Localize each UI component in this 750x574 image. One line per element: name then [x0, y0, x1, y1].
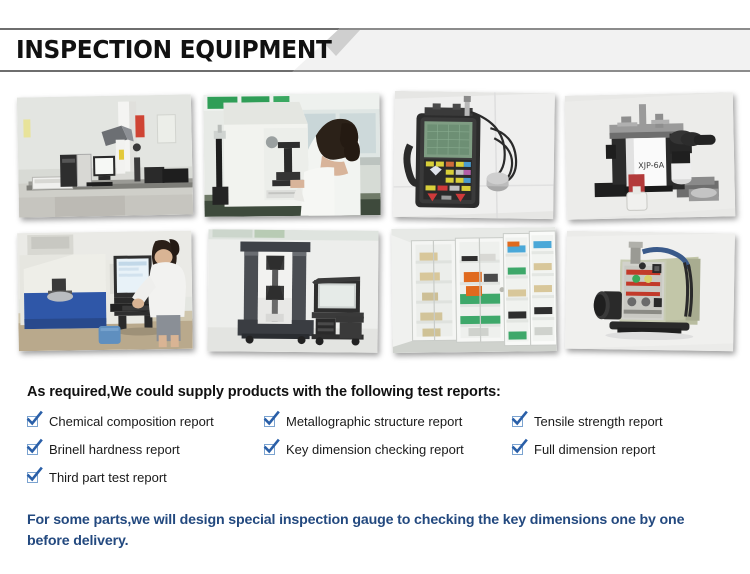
photo-spectrometer: [17, 231, 193, 351]
checklist-label: Metallographic structure report: [286, 414, 462, 429]
photo-hardness: [203, 93, 380, 217]
checklist-row: Brinell hardness report Key dimension ch…: [27, 442, 727, 470]
checklist-label: Chemical composition report: [49, 414, 214, 429]
cmm-illustration: [17, 94, 193, 217]
checklist-item-metallographic-structure[interactable]: Metallographic structure report: [264, 414, 462, 429]
checklist-item-tensile-strength[interactable]: Tensile strength report: [512, 414, 663, 429]
header-banner: INSPECTION EQUIPMENT: [0, 28, 750, 72]
reports-checklist: Chemical composition report Metallograph…: [27, 414, 727, 498]
checklist-row: Third part test report: [27, 470, 727, 498]
checklist-label: Tensile strength report: [534, 414, 663, 429]
checklist-label: Third part test report: [49, 470, 167, 485]
spectrometer-illustration: [17, 231, 193, 351]
hardness-tester-illustration: [203, 93, 380, 217]
footer-note: For some parts,we will design special in…: [27, 510, 717, 552]
checklist-label: Full dimension report: [534, 442, 655, 457]
photo-ultrasonic: [393, 91, 555, 219]
photo-cmm: [17, 94, 193, 217]
xray-detector-illustration: [565, 231, 735, 352]
checkmark-icon: [27, 471, 40, 484]
checkmark-icon: [512, 415, 525, 428]
checklist-item-third-part-test[interactable]: Third part test report: [27, 470, 167, 485]
checklist-item-key-dimension-checking[interactable]: Key dimension checking report: [264, 442, 464, 457]
photo-xray: [565, 231, 735, 352]
checklist-item-chemical-composition[interactable]: Chemical composition report: [27, 414, 214, 429]
svg-text:XJP-6A: XJP-6A: [638, 161, 665, 171]
ultrasonic-detector-illustration: [393, 91, 555, 219]
checkmark-icon: [27, 443, 40, 456]
checkmark-icon: [264, 415, 277, 428]
photo-grid: XJP-6A: [0, 86, 750, 371]
reports-heading: As required,We could supply products wit…: [27, 384, 501, 400]
checkmark-icon: [512, 443, 525, 456]
gauge-cabinets-illustration: [391, 227, 557, 353]
checklist-label: Key dimension checking report: [286, 442, 464, 457]
photo-metallographic: XJP-6A: [565, 92, 736, 219]
photo-tensile: [207, 229, 378, 352]
tensile-machine-illustration: [207, 229, 378, 352]
checkmark-icon: [27, 415, 40, 428]
photo-gauge-cabinets: [391, 227, 557, 353]
microscope-illustration: XJP-6A: [565, 92, 736, 219]
checkmark-icon: [264, 443, 277, 456]
checklist-item-brinell-hardness[interactable]: Brinell hardness report: [27, 442, 180, 457]
checklist-row: Chemical composition report Metallograph…: [27, 414, 727, 442]
checklist-item-full-dimension[interactable]: Full dimension report: [512, 442, 655, 457]
checklist-label: Brinell hardness report: [49, 442, 180, 457]
page-title: INSPECTION EQUIPMENT: [16, 32, 332, 68]
